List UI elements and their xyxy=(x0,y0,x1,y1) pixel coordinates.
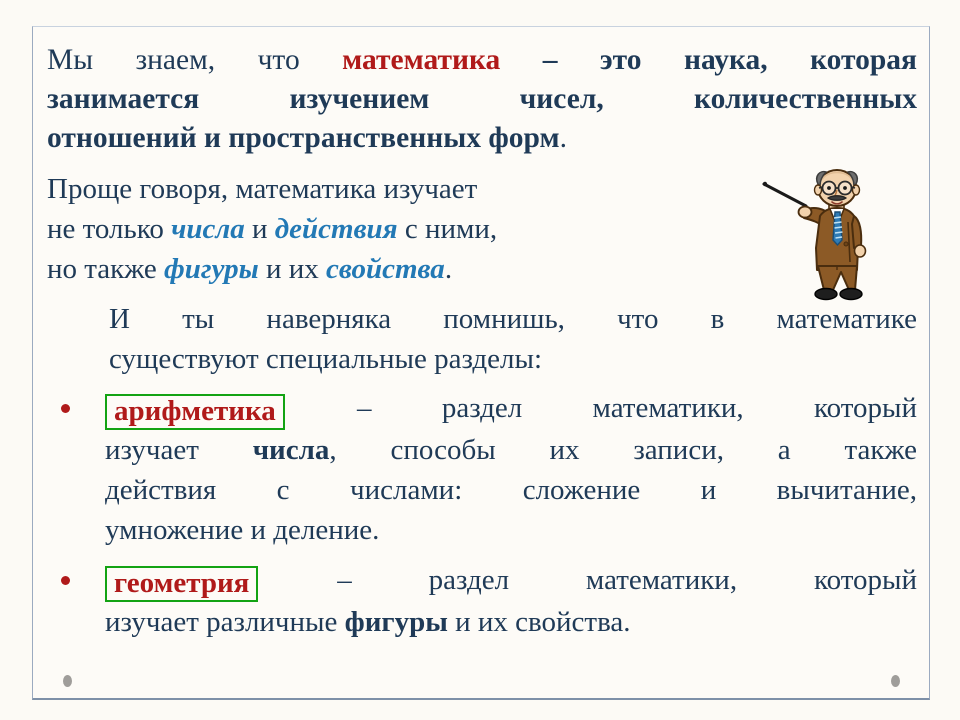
keyword-figures: фигуры xyxy=(164,253,259,285)
b1-dash: – xyxy=(287,392,442,424)
p1-body-start: – это наука, которая xyxy=(500,44,917,76)
p2-line-1: Проще говоря, математика изучает xyxy=(47,169,747,209)
b1-l1-rest: раздел математики, который xyxy=(442,392,917,424)
b1-l2-a: изучает xyxy=(105,434,253,466)
content-area: Мы знаем, что математика – это наука, ко… xyxy=(47,31,917,652)
b2-l2-a: изучает различные xyxy=(105,606,345,638)
keyword-operations: действия xyxy=(275,213,398,245)
keyword-properties: свойства xyxy=(326,253,445,285)
paragraph-simply-put: Проще говоря, математика изучает не толь… xyxy=(47,169,747,289)
list-item-geometry-text: геометрия – раздел математики, который и… xyxy=(105,560,917,642)
p1-line: занимается изучением чисел, количественн… xyxy=(47,80,917,119)
b1-line-4: умножение и деление. xyxy=(105,510,917,550)
p3-line-2: существуют специальные разделы: xyxy=(47,339,917,379)
teacher-with-pointer-illustration xyxy=(762,166,912,306)
slide-canvas: Мы знаем, что математика – это наука, ко… xyxy=(0,0,960,720)
keyword-numbers: числа xyxy=(171,213,245,245)
p2-l2-a: не только xyxy=(47,213,171,245)
b2-l1-rest: раздел математики, который xyxy=(429,564,917,596)
keyword-figures-bold: фигуры xyxy=(345,606,448,638)
b2-line-2: изучает различные фигуры и их свойства. xyxy=(105,602,917,642)
p1-period: . xyxy=(560,122,567,154)
b1-line-2: изучает числа, способы их записи, а такж… xyxy=(105,430,917,470)
paragraph-definition: Мы знаем, что математика – это наука, ко… xyxy=(47,41,917,158)
b2-line-1: геометрия – раздел математики, который xyxy=(105,560,917,602)
p2-line-2: не только числа и действия с ними, xyxy=(47,209,747,249)
pointer-stick-icon xyxy=(763,182,806,206)
b2-dash: – xyxy=(260,564,428,596)
term-arithmetic: арифметика xyxy=(105,394,285,430)
list-item-arithmetic[interactable]: арифметика – раздел математики, который … xyxy=(47,388,917,550)
b1-line-3: действия с числами: сложение и вычитание… xyxy=(105,470,917,510)
sections-list: арифметика – раздел математики, который … xyxy=(47,388,917,642)
p1-line: отношений и пространственных форм. xyxy=(47,119,917,158)
p2-l2-b: и xyxy=(245,213,275,245)
p1-lead: Мы знаем, что xyxy=(47,44,342,76)
b1-line-1: арифметика – раздел математики, который xyxy=(105,388,917,430)
bullet-dot-icon xyxy=(61,404,70,413)
p2-l3-c: . xyxy=(445,253,452,285)
decorative-dot-right xyxy=(891,675,900,687)
list-item-geometry[interactable]: геометрия – раздел математики, который и… xyxy=(47,560,917,642)
list-item-arithmetic-text: арифметика – раздел математики, который … xyxy=(105,388,917,550)
keyword-mathematics: математика xyxy=(342,44,500,76)
bullet-dot-icon xyxy=(61,576,70,585)
p2-l2-c: с ними, xyxy=(398,213,498,245)
b1-l2-b: , способы их записи, а также xyxy=(329,434,917,466)
p1-line: Мы знаем, что математика – это наука, ко… xyxy=(47,41,917,80)
p2-l3-b: и их xyxy=(259,253,326,285)
term-geometry: геометрия xyxy=(105,566,258,602)
b2-l2-b: и их свойства. xyxy=(448,606,631,638)
paragraph-sections-intro: И ты наверняка помнишь, что в математике… xyxy=(47,299,917,379)
p2-l3-a: но также xyxy=(47,253,164,285)
p2-line-3: но также фигуры и их свойства. xyxy=(47,249,747,289)
content-frame: Мы знаем, что математика – это наука, ко… xyxy=(32,26,930,700)
keyword-numbers-bold: числа xyxy=(253,434,330,466)
decorative-dot-left xyxy=(63,675,72,687)
